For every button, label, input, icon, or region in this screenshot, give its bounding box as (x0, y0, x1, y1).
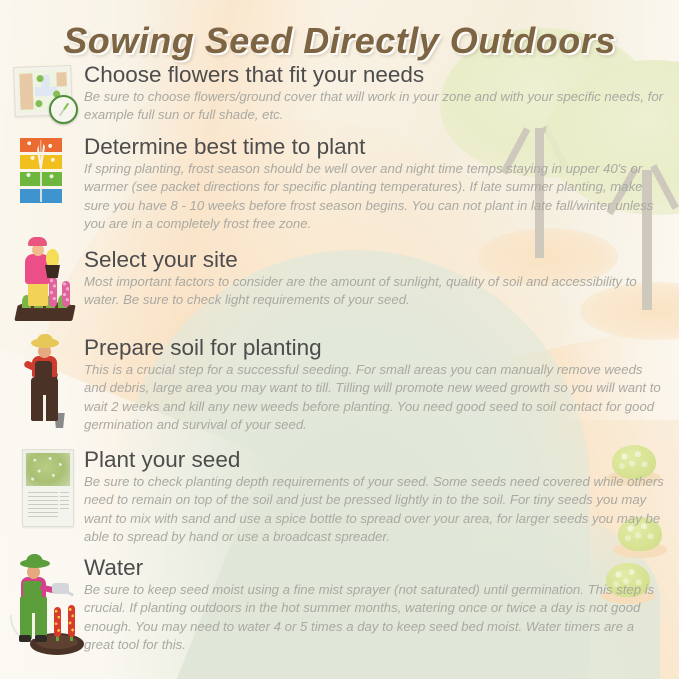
garden-plan-compass-icon (14, 66, 72, 116)
yellow-flower (46, 249, 59, 267)
flower-pot (45, 265, 60, 278)
step-heading: Water (84, 555, 665, 580)
packet-photo (26, 453, 70, 489)
step-body: Be sure to check planting depth requirem… (84, 473, 665, 546)
gardener-pink-graphic (16, 235, 74, 321)
gardener-bib (35, 361, 52, 381)
compass-icon (49, 95, 78, 124)
gardener-hat-brim (31, 338, 59, 348)
packet-text-lines (60, 492, 69, 512)
step-icon-slot (10, 247, 82, 248)
seed-packet-graphic (22, 449, 74, 527)
seed-packet-icon (22, 449, 74, 527)
gardener-boot (35, 635, 47, 642)
step-icon-slot (10, 134, 82, 135)
step-body: Most important factors to consider are t… (84, 273, 665, 309)
step-icon-slot (10, 62, 82, 63)
pink-flower-spike (49, 277, 57, 307)
gardener-watering-graphic (12, 557, 84, 655)
step-text: Plant your seed Be sure to check plantin… (82, 447, 665, 546)
four-seasons-icon (20, 138, 62, 204)
infographic-poster: Sowing Seed Directly Outdoors (0, 0, 679, 679)
step-heading: Choose flowers that fit your needs (84, 62, 665, 87)
step-plant-seed: Plant your seed Be sure to check plantin… (0, 447, 679, 555)
packet-text-lines (28, 492, 58, 520)
step-heading: Determine best time to plant (84, 134, 665, 159)
step-text: Water Be sure to keep seed moist using a… (82, 555, 665, 654)
gardener-hat-brim (20, 559, 50, 568)
gardener-watering-icon (12, 557, 84, 655)
step-water: Water Be sure to keep seed moist using a… (0, 555, 679, 665)
plan-bed (19, 73, 33, 109)
step-body: Be sure to choose flowers/ground cover t… (84, 88, 665, 124)
gardener-planting-flowers-icon (16, 235, 74, 321)
step-icon-slot (10, 555, 82, 556)
step-determine-time: Determine best time to plant If spring p… (0, 134, 679, 247)
compass-needle (58, 102, 68, 115)
step-heading: Select your site (84, 247, 665, 272)
step-prepare-soil: Prepare soil for planting This is a cruc… (0, 335, 679, 447)
step-choose-flowers: Choose flowers that fit your needs Be su… (0, 62, 679, 134)
season-leaf-dots (20, 138, 62, 204)
step-heading: Prepare soil for planting (84, 335, 665, 360)
gardener-legs (28, 281, 48, 306)
steps-list: Choose flowers that fit your needs Be su… (0, 62, 679, 665)
step-body: If spring planting, frost season should … (84, 160, 665, 233)
step-text: Choose flowers that fit your needs Be su… (82, 62, 665, 125)
pink-flower-spike (62, 281, 70, 307)
step-heading: Plant your seed (84, 447, 665, 472)
gardener-boot (19, 635, 31, 642)
gardener-leg-gap (43, 395, 46, 421)
gardener-with-shovel-icon (20, 337, 74, 429)
page-title: Sowing Seed Directly Outdoors (0, 20, 679, 62)
gardener-shovel-graphic (20, 337, 74, 429)
step-icon-slot (10, 447, 82, 448)
gardener-bib (23, 581, 42, 599)
step-body: Be sure to keep seed moist using a fine … (84, 581, 665, 654)
plan-bed (56, 72, 66, 86)
step-select-site: Select your site Most important factors … (0, 247, 679, 335)
four-seasons-graphic (20, 138, 62, 204)
red-flower-spike (68, 605, 75, 637)
step-icon-slot (10, 335, 82, 336)
red-flower-spike (54, 607, 61, 637)
gardener-hat (28, 237, 47, 246)
step-body: This is a crucial step for a successful … (84, 361, 665, 434)
step-text: Determine best time to plant If spring p… (82, 134, 665, 233)
step-text: Prepare soil for planting This is a cruc… (82, 335, 665, 434)
step-text: Select your site Most important factors … (82, 247, 665, 310)
